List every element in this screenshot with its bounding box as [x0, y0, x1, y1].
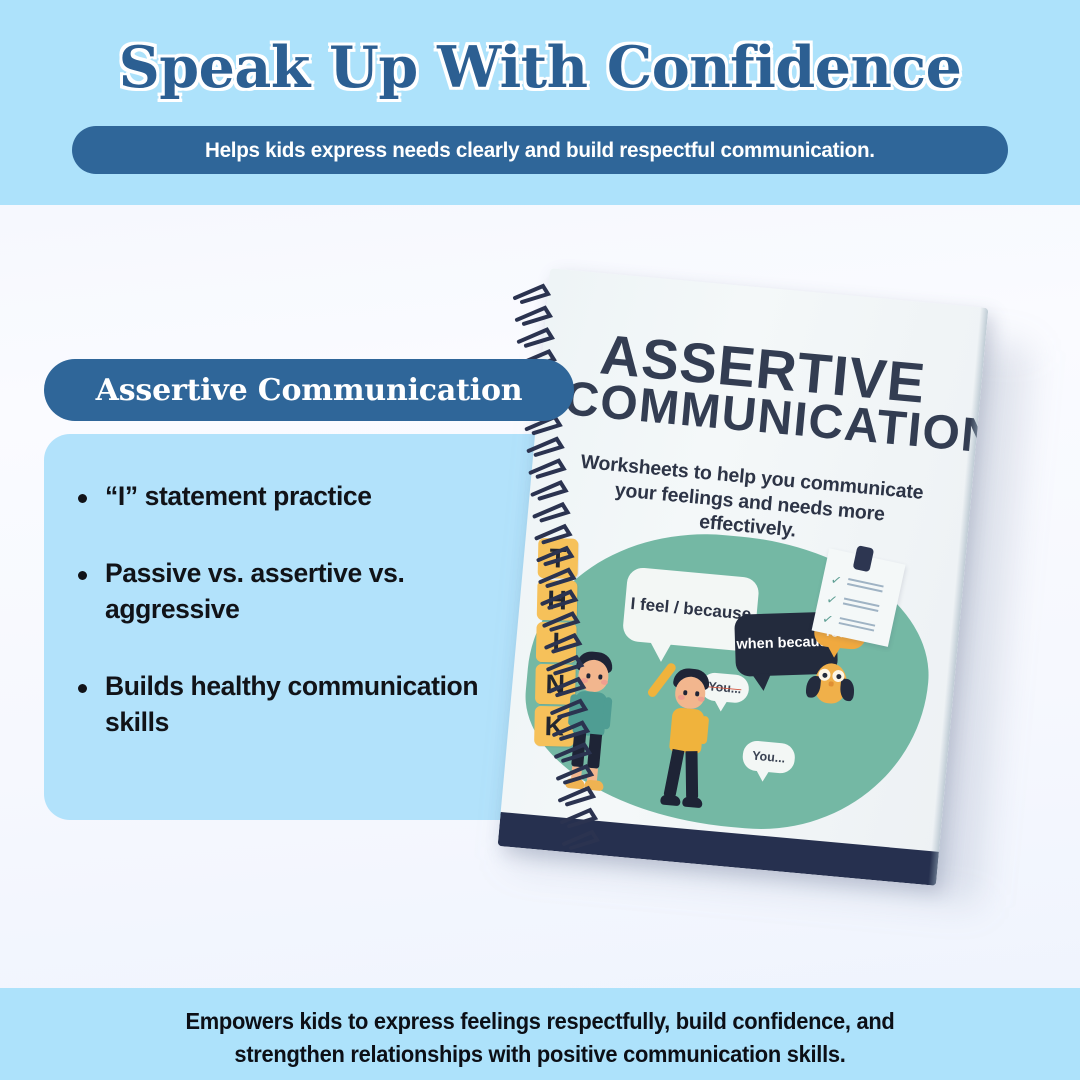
panel-heading-bar: Assertive Communication — [44, 359, 574, 421]
subtitle-pill: Helps kids express needs clearly and bui… — [72, 126, 1008, 174]
footer-band: Empowers kids to express feelings respec… — [0, 988, 1080, 1080]
think-block-t: T — [538, 538, 579, 579]
cover-title: ASSERTIVE COMMUNICATION — [562, 325, 959, 456]
poster-canvas: Speak Up With Confidence Helps kids expr… — [0, 0, 1080, 1080]
checklist-lines — [838, 617, 875, 634]
list-item: “I” statement practice — [78, 478, 498, 515]
subtitle-text: Helps kids express needs clearly and bui… — [205, 138, 875, 163]
footer-line-2: strengthen relationships with positive c… — [122, 1038, 959, 1071]
think-block-h: H — [537, 580, 578, 621]
notebook-mockup: ASSERTIVE COMMUNICATION Worksheets to he… — [495, 255, 1055, 915]
bullet-dot-icon — [78, 571, 87, 580]
eye — [598, 674, 602, 679]
bullet-dot-icon — [78, 494, 87, 503]
page-title: Speak Up With Confidence — [0, 34, 1080, 101]
feature-bullet-list: “I” statement practice Passive vs. asser… — [78, 478, 498, 741]
bullet-dot-icon — [78, 684, 87, 693]
shoe-right — [584, 780, 604, 792]
panel-heading-text: Assertive Communication — [96, 373, 523, 408]
small-bubble-text: You... — [752, 749, 786, 766]
clipboard-clip-icon — [853, 545, 875, 572]
notebook-cover: ASSERTIVE COMMUNICATION Worksheets to he… — [498, 268, 989, 885]
checklist-lines — [847, 577, 884, 594]
check-icon: ✓ — [830, 573, 843, 586]
check-icon: ✓ — [821, 613, 834, 626]
list-item: Builds healthy communication skills — [78, 668, 498, 741]
shoe-left — [565, 778, 585, 790]
leg-right — [685, 751, 698, 799]
bullet-text: Builds healthy communication skills — [105, 668, 498, 741]
speech-bubble-small-you: You... — [742, 740, 797, 775]
bullet-text: Passive vs. assertive vs. aggressive — [105, 555, 498, 628]
owl-icon — [806, 659, 856, 707]
header-band — [0, 0, 1080, 205]
footer-text: Empowers kids to express feelings respec… — [122, 1005, 959, 1072]
eye — [586, 673, 590, 678]
shoe-left — [660, 794, 681, 806]
bullet-text: “I” statement practice — [105, 478, 372, 515]
eye — [695, 691, 699, 696]
eye — [683, 690, 687, 695]
crossed-bubble-text: You... — [708, 679, 742, 696]
check-icon: ✓ — [826, 593, 839, 606]
footer-line-1: Empowers kids to express feelings respec… — [122, 1005, 959, 1038]
think-block-i: I — [536, 622, 577, 663]
list-item: Passive vs. assertive vs. aggressive — [78, 555, 498, 628]
checklist-lines — [842, 597, 879, 614]
shoe-right — [682, 796, 703, 808]
